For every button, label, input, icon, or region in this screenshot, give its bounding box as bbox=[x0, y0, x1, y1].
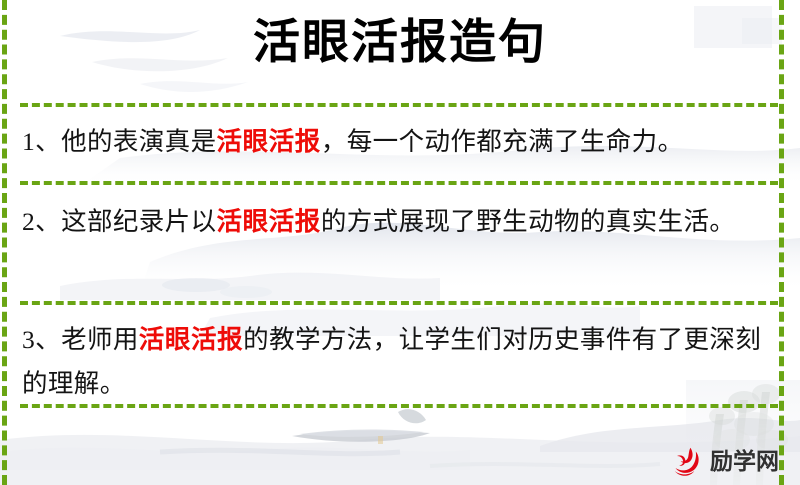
sentence-text-before-3: 老师用 bbox=[61, 325, 139, 354]
sentence-number-1: 1、 bbox=[22, 127, 61, 156]
separator-1-2 bbox=[20, 181, 778, 185]
sentence-text-before-2: 这部纪录片以 bbox=[61, 207, 216, 236]
sentence-text-before-1: 他的表演真是 bbox=[61, 127, 216, 156]
site-watermark-label: 励学网 bbox=[710, 451, 779, 474]
separator-top bbox=[20, 103, 778, 107]
keyword-highlight-3: 活眼活报 bbox=[139, 325, 243, 354]
sentence-number-3: 3、 bbox=[22, 325, 61, 354]
page-title: 活眼活报造句 bbox=[0, 14, 800, 71]
example-sentence-3: 3、老师用活眼活报的教学方法，让学生们对历史事件有了更深刻的理解。 bbox=[22, 318, 770, 406]
sentence-text-after-1: ，每一个动作都充满了生命力。 bbox=[321, 127, 684, 156]
separator-2-3 bbox=[20, 301, 778, 305]
sentence-example-page: 活眼活报造句 1、他的表演真是活眼活报，每一个动作都充满了生命力。 2、这部纪录… bbox=[0, 0, 800, 485]
keyword-highlight-1: 活眼活报 bbox=[216, 127, 320, 156]
example-sentence-2: 2、这部纪录片以活眼活报的方式展现了野生动物的真实生活。 bbox=[22, 200, 770, 244]
frame-border-right bbox=[779, 0, 784, 485]
frame-border-left bbox=[2, 0, 7, 485]
red-swirl-logo-icon bbox=[668, 444, 704, 480]
sentence-number-2: 2、 bbox=[22, 207, 61, 236]
sentence-text-after-2: 的方式展现了野生动物的真实生活。 bbox=[321, 207, 735, 236]
site-watermark: 励学网 bbox=[668, 444, 779, 480]
example-sentence-1: 1、他的表演真是活眼活报，每一个动作都充满了生命力。 bbox=[22, 120, 770, 164]
keyword-highlight-2: 活眼活报 bbox=[216, 207, 320, 236]
